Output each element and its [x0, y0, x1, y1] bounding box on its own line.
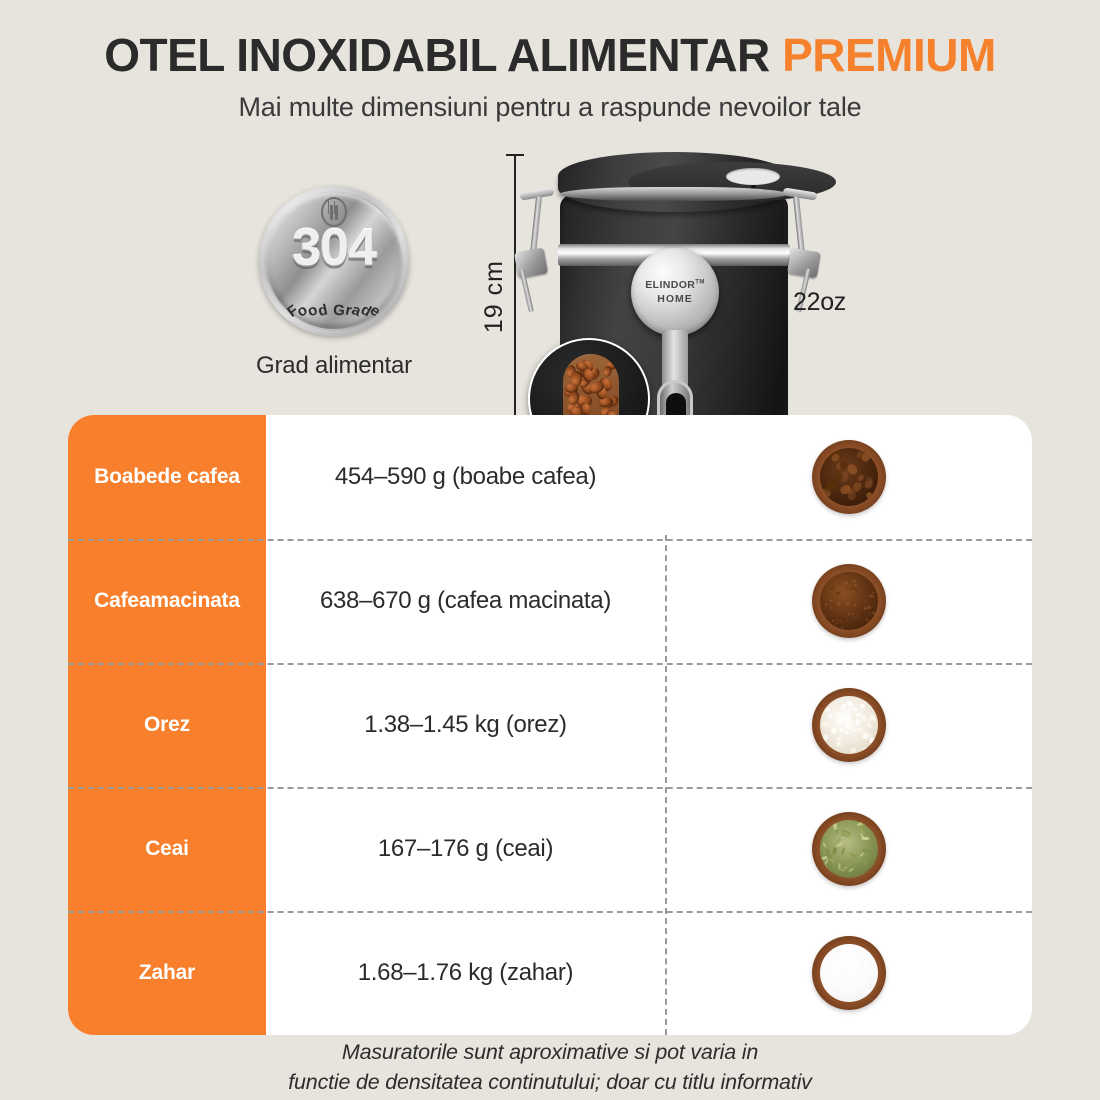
row-separator: [68, 663, 1032, 665]
row-food-image: [665, 415, 1032, 539]
row-category-label: Boabede cafea: [68, 415, 266, 539]
brand-tm: TM: [695, 280, 704, 286]
row-separator: [68, 911, 1032, 913]
footnote-line-2: functie de densitatea continutului; doar…: [0, 1068, 1100, 1098]
brand-name: ELINDOR: [645, 279, 695, 291]
brand-subname: HOME: [657, 293, 693, 305]
table-row: Boabede cafea454–590 g (boabe cafea): [68, 415, 1032, 539]
capacity-table-card: Boabede cafea454–590 g (boabe cafea)Cafe…: [68, 415, 1032, 1035]
bowl-coffee-beans-icon: [812, 440, 886, 514]
footnote: Masuratorile sunt aproximative si pot va…: [0, 1038, 1100, 1097]
brand-logo-disc: ELINDORTM HOME: [631, 248, 719, 336]
title-main: OTEL INOXIDABIL ALIMENTAR: [104, 29, 782, 81]
row-category-label: Zahar: [68, 911, 266, 1035]
row-food-image: [665, 911, 1032, 1035]
row-category-label: Orez: [68, 663, 266, 787]
table-row: Cafeamacinata638–670 g (cafea macinata): [68, 539, 1032, 663]
row-capacity-value: 454–590 g (boabe cafea): [266, 415, 665, 539]
table-row: Ceai167–176 g (ceai): [68, 787, 1032, 911]
row-category-label: Ceai: [68, 787, 266, 911]
bowl-sugar-icon: [812, 936, 886, 1010]
row-capacity-value: 1.68–1.76 kg (zahar): [266, 911, 665, 1035]
bowl-rice-icon: [812, 688, 886, 762]
row-separator: [68, 539, 1032, 541]
canister-lid: [558, 152, 790, 212]
capacity-table: Boabede cafea454–590 g (boabe cafea)Cafe…: [68, 415, 1032, 1035]
badge-304-seal: 304 Food Grade: [259, 186, 409, 336]
capacity-label: 22oz: [793, 288, 846, 317]
clasp-left: [510, 188, 562, 313]
column-separator: [665, 535, 667, 1035]
row-capacity-value: 1.38–1.45 kg (orez): [266, 663, 665, 787]
row-food-image: [665, 787, 1032, 911]
row-category-label: Cafeamacinata: [68, 539, 266, 663]
row-separator: [68, 787, 1032, 789]
header: OTEL INOXIDABIL ALIMENTAR PREMIUM Mai mu…: [0, 0, 1100, 123]
row-food-image: [665, 539, 1032, 663]
badge-caption: Grad alimentar: [244, 352, 424, 380]
footnote-line-1: Masuratorile sunt aproximative si pot va…: [0, 1038, 1100, 1068]
height-dimension-label: 19 cm: [480, 260, 509, 333]
badge-number: 304: [259, 222, 409, 274]
lid-date-window-icon: [726, 168, 780, 185]
page-subtitle: Mai multe dimensiuni pentru a raspunde n…: [0, 92, 1100, 123]
table-row: Orez1.38–1.45 kg (orez): [68, 663, 1032, 787]
row-capacity-value: 638–670 g (cafea macinata): [266, 539, 665, 663]
table-row: Zahar1.68–1.76 kg (zahar): [68, 911, 1032, 1035]
bowl-ground-coffee-icon: [812, 564, 886, 638]
title-accent: PREMIUM: [782, 29, 996, 81]
page-title: OTEL INOXIDABIL ALIMENTAR PREMIUM: [0, 31, 1100, 80]
bowl-tea-icon: [812, 812, 886, 886]
row-food-image: [665, 663, 1032, 787]
food-grade-badge-block: 304 Food Grade Grad alimentar: [244, 186, 424, 380]
lid-chrome-ring: [560, 187, 788, 201]
row-capacity-value: 167–176 g (ceai): [266, 787, 665, 911]
badge-food-grade-text: Food Grade: [259, 305, 409, 322]
